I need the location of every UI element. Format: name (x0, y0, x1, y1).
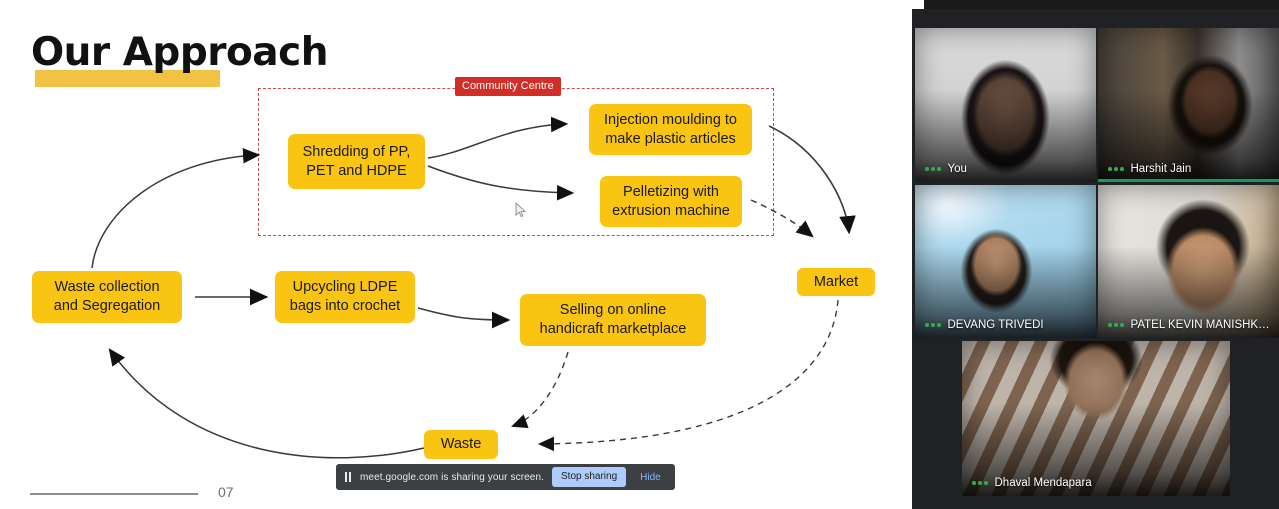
participant-name-row: PATEL KEVIN MANISHK… (1098, 312, 1279, 338)
shared-slide: Our Approach Community Centre (0, 0, 912, 509)
node-injection-moulding: Injection moulding to make plastic artic… (589, 104, 752, 155)
participant-name-row: You (915, 156, 977, 182)
node-shredding-line2: PET and HDPE (303, 162, 411, 181)
pause-icon[interactable] (344, 472, 352, 482)
speaking-indicator (1098, 179, 1279, 182)
share-status-text: meet.google.com is sharing your screen. (360, 472, 544, 483)
window-edge-left (912, 0, 924, 9)
node-waste-collection-line1: Waste collection (54, 278, 160, 297)
video-tile-harshit-jain[interactable]: Harshit Jain (1098, 28, 1279, 182)
more-options-icon[interactable] (1108, 323, 1124, 327)
node-selling-online: Selling on online handicraft marketplace (520, 294, 706, 346)
hide-button[interactable]: Hide (634, 472, 667, 483)
node-pelletizing-line1: Pelletizing with (612, 183, 730, 202)
video-tile-patel-kevin[interactable]: PATEL KEVIN MANISHK… (1098, 185, 1279, 338)
node-waste: Waste (424, 430, 498, 459)
video-tile-dhaval-mendapara[interactable]: Dhaval Mendapara (962, 341, 1230, 496)
node-injection-line1: Injection moulding to (604, 111, 737, 130)
node-market-label: Market (814, 273, 858, 292)
node-selling-line1: Selling on online (540, 301, 687, 320)
participant-name-row: Dhaval Mendapara (962, 470, 1102, 496)
node-pelletizing: Pelletizing with extrusion machine (600, 176, 742, 227)
node-waste-label: Waste (441, 435, 482, 454)
edge-selling-waste (513, 352, 568, 426)
participant-name: PATEL KEVIN MANISHK… (1131, 319, 1270, 331)
participant-name: You (948, 163, 967, 175)
node-upcycling-line2: bags into crochet (290, 297, 400, 316)
mouse-pointer-icon (515, 202, 527, 218)
video-grid-panel: You Harshit Jain DEVANG TRIVEDI (912, 0, 1279, 509)
node-shredding-line1: Shredding of PP, (303, 143, 411, 162)
more-options-icon[interactable] (925, 167, 941, 171)
more-options-icon[interactable] (1108, 167, 1124, 171)
footer-rule (30, 493, 198, 495)
window-edge (912, 0, 1279, 9)
video-tile-you[interactable]: You (915, 28, 1096, 182)
video-tile-devang-trivedi[interactable]: DEVANG TRIVEDI (915, 185, 1096, 338)
node-injection-line2: make plastic articles (604, 130, 737, 149)
node-waste-collection-line2: and Segregation (54, 297, 160, 316)
edge-upcycling-selling (418, 308, 508, 320)
node-selling-line2: handicraft marketplace (540, 320, 687, 339)
participant-name-row: DEVANG TRIVEDI (915, 312, 1054, 338)
more-options-icon[interactable] (972, 481, 988, 485)
edge-injection-market (769, 126, 849, 232)
screen: Our Approach Community Centre (0, 0, 1279, 509)
node-pelletizing-line2: extrusion machine (612, 202, 730, 221)
node-upcycling-line1: Upcycling LDPE (290, 278, 400, 297)
stop-sharing-button[interactable]: Stop sharing (552, 467, 626, 487)
community-centre-label: Community Centre (455, 77, 561, 96)
node-upcycling: Upcycling LDPE bags into crochet (275, 271, 415, 323)
participant-name: DEVANG TRIVEDI (948, 319, 1044, 331)
node-market: Market (797, 268, 875, 296)
screen-share-bar[interactable]: meet.google.com is sharing your screen. … (336, 464, 675, 490)
node-shredding: Shredding of PP, PET and HDPE (288, 134, 425, 189)
more-options-icon[interactable] (925, 323, 941, 327)
meet-top-strip (912, 0, 1279, 28)
page-title: Our Approach (31, 30, 328, 75)
edge-wastecollection-shredding (92, 155, 258, 268)
participant-name: Dhaval Mendapara (995, 477, 1092, 489)
page-number: 07 (218, 484, 234, 500)
page-title-wrap: Our Approach (31, 30, 328, 75)
node-waste-collection: Waste collection and Segregation (32, 271, 182, 323)
participant-name: Harshit Jain (1131, 163, 1192, 175)
edge-waste-wastecollection (110, 350, 424, 458)
